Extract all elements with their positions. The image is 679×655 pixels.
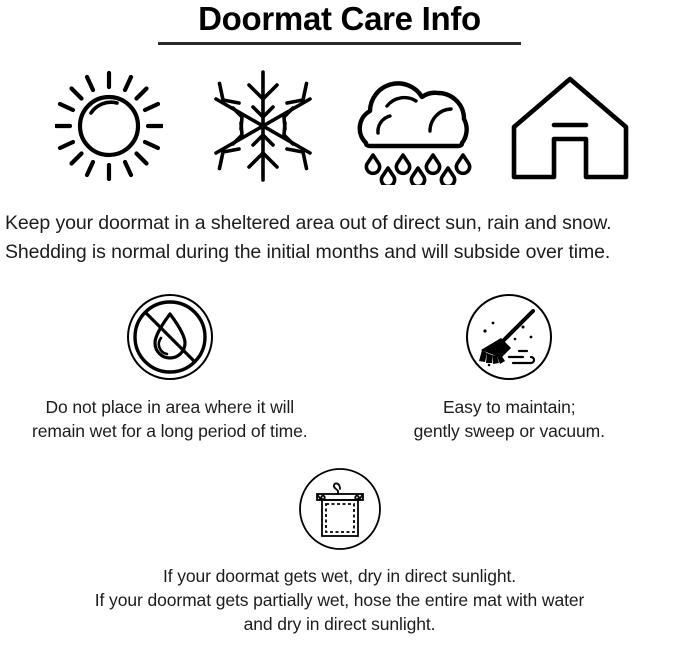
care-tip-easy-maintain: Easy to maintain; gently sweep or vacuum… <box>340 293 679 443</box>
care-tip-caption: Easy to maintain; gently sweep or vacuum… <box>414 395 605 443</box>
broom-sweep-icon <box>465 293 553 381</box>
weather-cell-snow <box>188 67 338 185</box>
page-title: Doormat Care Info <box>0 2 679 36</box>
sun-icon <box>55 67 163 185</box>
drying-caption: If your doormat gets wet, dry in direct … <box>95 564 584 636</box>
page-header: Doormat Care Info <box>0 0 679 45</box>
drying-caption-line-1: If your doormat gets wet, dry in direct … <box>95 564 584 588</box>
care-tip-caption-line-1: Easy to maintain; <box>414 395 605 419</box>
intro-paragraph: Keep your doormat in a sheltered area ou… <box>0 209 679 267</box>
rain-cloud-icon <box>346 73 486 185</box>
hang-to-dry-icon <box>298 467 382 551</box>
care-tip-caption-line-2: gently sweep or vacuum. <box>414 419 605 443</box>
weather-icon-row <box>0 45 679 185</box>
drying-instructions: If your doormat gets wet, dry in direct … <box>0 467 679 636</box>
intro-line-2: Shedding is normal during the initial mo… <box>5 238 675 267</box>
weather-cell-house <box>495 73 645 185</box>
weather-cell-rain <box>341 73 491 185</box>
intro-line-1: Keep your doormat in a sheltered area ou… <box>5 209 675 238</box>
care-tip-caption-line-1: Do not place in area where it will <box>32 395 307 419</box>
drying-caption-line-3: and dry in direct sunlight. <box>95 612 584 636</box>
care-tips-row: Do not place in area where it will remai… <box>0 293 679 443</box>
care-tip-no-standing-water: Do not place in area where it will remai… <box>0 293 340 443</box>
drying-caption-line-2: If your doormat gets partially wet, hose… <box>95 588 584 612</box>
no-water-icon <box>126 293 214 381</box>
care-tip-caption-line-2: remain wet for a long period of time. <box>32 419 307 443</box>
weather-cell-sun <box>34 67 184 185</box>
house-icon <box>508 73 632 185</box>
care-tip-caption: Do not place in area where it will remai… <box>32 395 307 443</box>
snowflake-icon <box>211 67 315 185</box>
